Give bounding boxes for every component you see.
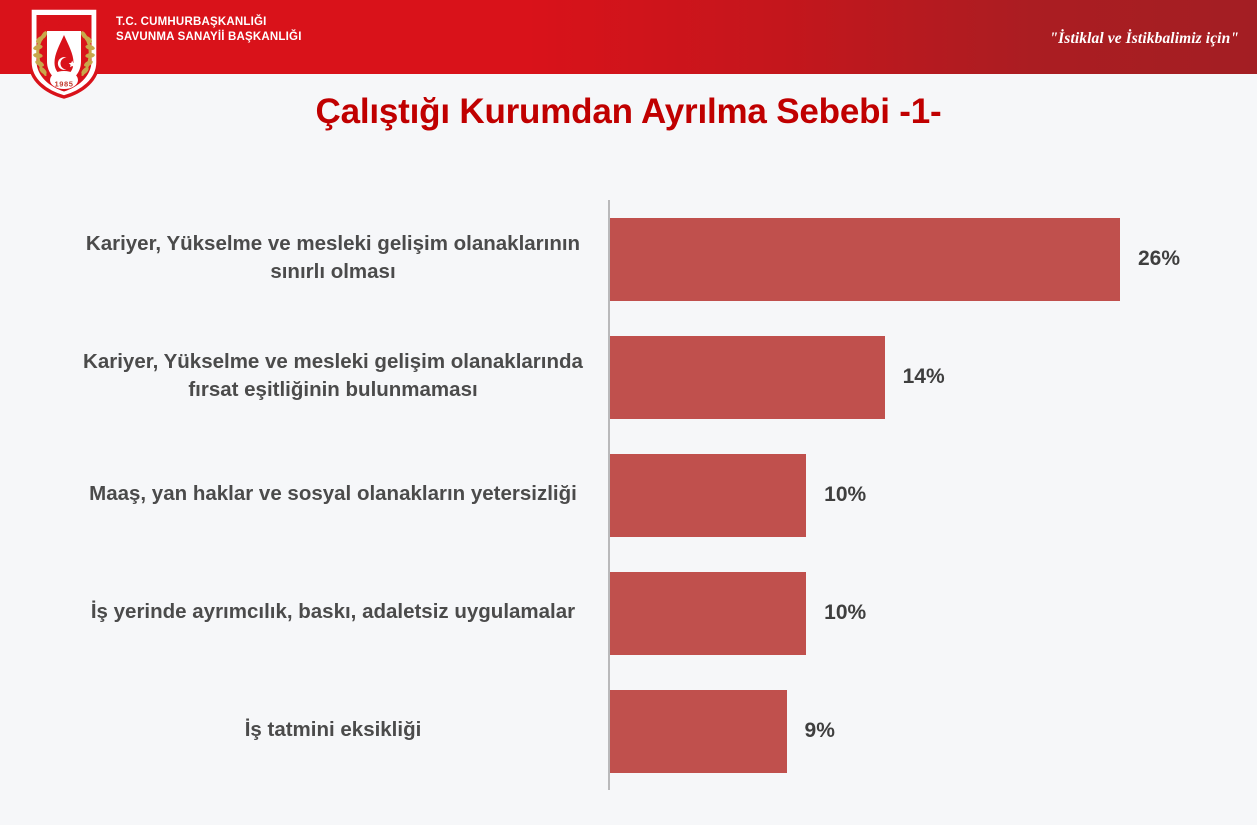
bar-category-label: Kariyer, Yükselme ve mesleki gelişim ola…: [68, 334, 598, 417]
header-slogan: "İstiklal ve İstikbalimiz için": [1049, 30, 1239, 48]
org-line-presidency: T.C. CUMHURBAŞKANLIĞI: [116, 15, 302, 30]
bar-value-label: 14%: [903, 365, 945, 389]
bar-rect[interactable]: [610, 454, 806, 537]
bar-category-label: Maaş, yan haklar ve sosyal olanakların y…: [68, 452, 598, 535]
bar-category-label: İş tatmini eksikliği: [68, 688, 598, 771]
bar-chart: Kariyer, Yükselme ve mesleki gelişim ola…: [0, 186, 1257, 798]
bar-value-label: 10%: [824, 601, 866, 625]
bar-rect[interactable]: [610, 218, 1120, 301]
ssb-shield-logo: S S B 1985: [22, 4, 106, 100]
organization-name: T.C. CUMHURBAŞKANLIĞI SAVUNMA SANAYİİ BA…: [116, 15, 302, 44]
bar-value-label: 9%: [805, 719, 835, 743]
chart-plot-area: Kariyer, Yükselme ve mesleki gelişim ola…: [0, 186, 1257, 798]
bar-category-label: Kariyer, Yükselme ve mesleki gelişim ola…: [68, 216, 598, 299]
bar-category-label: İş yerinde ayrımcılık, baskı, adaletsiz …: [68, 570, 598, 653]
logo-year: 1985: [54, 80, 73, 89]
header-band: S S B 1985 T.C. CUMHURBAŞKANLIĞI SAVUNMA…: [0, 0, 1257, 74]
header-branding: S S B 1985 T.C. CUMHURBAŞKANLIĞI SAVUNMA…: [22, 4, 302, 100]
org-line-defence-industries: SAVUNMA SANAYİİ BAŞKANLIĞI: [116, 30, 302, 45]
bar-value-label: 10%: [824, 483, 866, 507]
bar-rect[interactable]: [610, 690, 787, 773]
bar-value-label: 26%: [1138, 247, 1180, 271]
logo-initials: S S B: [37, 13, 91, 30]
bar-rect[interactable]: [610, 572, 806, 655]
bar-rect[interactable]: [610, 336, 885, 419]
